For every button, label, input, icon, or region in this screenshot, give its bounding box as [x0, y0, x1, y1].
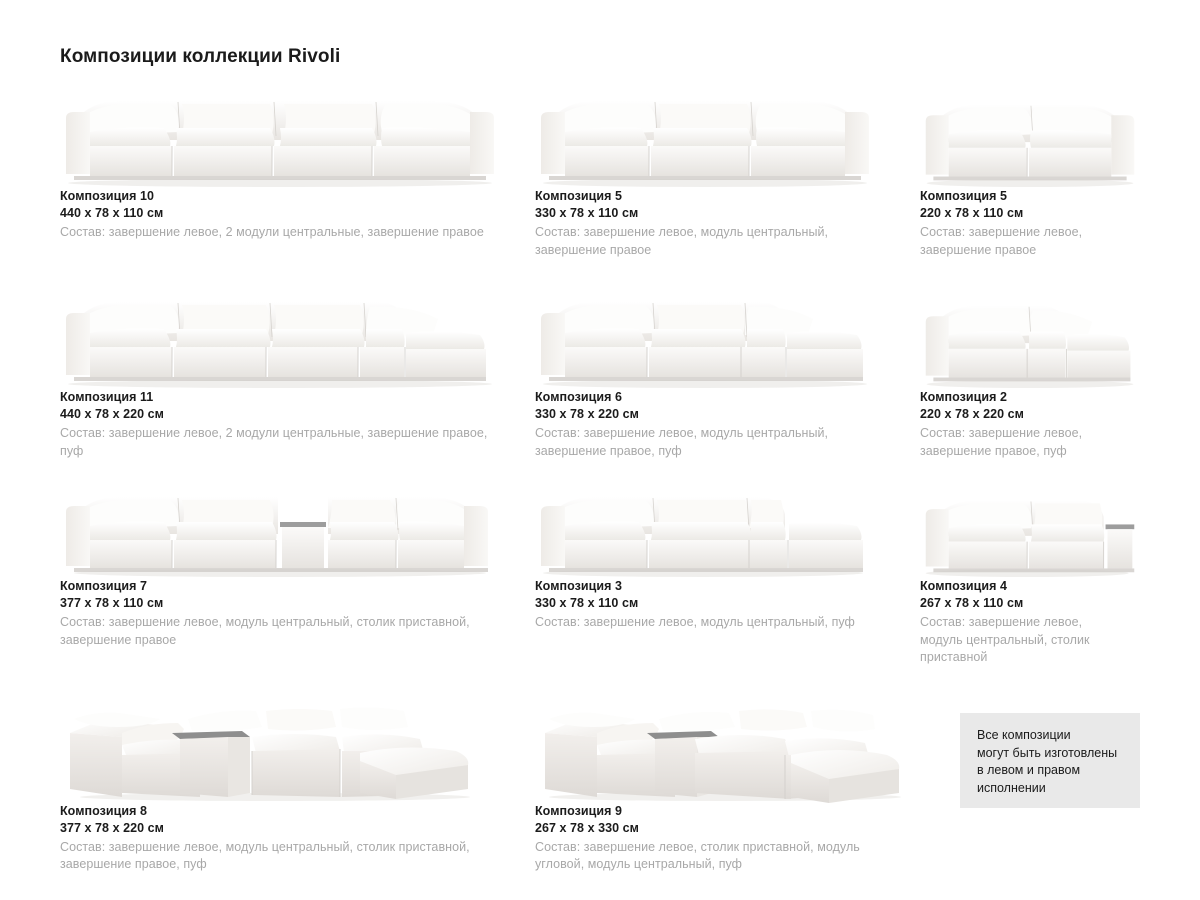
composition-parts: Состав: завершение левое, модуль централ… [535, 425, 898, 460]
composition-parts: Состав: завершение левое, столик пристав… [535, 839, 898, 874]
composition-row: Композиция 10 440 x 78 x 110 см Состав: … [60, 88, 1140, 259]
composition-card-4[interactable]: Композиция 4 267 x 78 x 110 см Состав: з… [920, 486, 1140, 667]
side-table-top [1106, 524, 1135, 529]
composition-name: Композиция 5 [920, 188, 1118, 205]
composition-card-2[interactable]: Композиция 2 220 x 78 x 220 см Состав: з… [920, 289, 1140, 460]
composition-name: Композиция 4 [920, 578, 1118, 595]
composition-name: Композиция 2 [920, 389, 1118, 406]
composition-caption: Композиция 5 330 x 78 x 110 см Состав: з… [535, 188, 920, 259]
composition-row: Композиция 7 377 x 78 x 110 см Состав: з… [60, 486, 1140, 667]
composition-dimensions: 377 x 78 x 220 см [60, 820, 513, 837]
composition-row: Композиция 11 440 x 78 x 220 см Состав: … [60, 289, 1140, 460]
composition-parts: Состав: завершение левое, завершение пра… [920, 425, 1118, 460]
composition-card-7[interactable]: Композиция 7 377 x 78 x 110 см Состав: з… [60, 486, 535, 667]
composition-card-9[interactable]: Композиция 9 267 x 78 x 330 см Состав: з… [535, 693, 920, 874]
composition-card-6[interactable]: Композиция 6 330 x 78 x 220 см Состав: з… [535, 289, 920, 460]
sofa-illustration-2 [920, 289, 1140, 389]
composition-card-11[interactable]: Композиция 11 440 x 78 x 220 см Состав: … [60, 289, 535, 460]
composition-dimensions: 267 x 78 x 330 см [535, 820, 898, 837]
sofa-illustration-8 [60, 693, 535, 803]
composition-parts: Состав: завершение левое, 2 модули центр… [60, 224, 513, 242]
composition-dimensions: 220 x 78 x 220 см [920, 406, 1118, 423]
composition-name: Композиция 11 [60, 389, 513, 406]
composition-caption: Композиция 2 220 x 78 x 220 см Состав: з… [920, 389, 1140, 460]
sofa-illustration-7 [60, 486, 535, 578]
composition-name: Композиция 10 [60, 188, 513, 205]
composition-dimensions: 330 x 78 x 110 см [535, 205, 898, 222]
info-box-line-2: могут быть изготовлены [977, 745, 1140, 763]
composition-caption: Композиция 3 330 x 78 x 110 см Состав: з… [535, 578, 920, 632]
composition-name: Композиция 6 [535, 389, 898, 406]
composition-card-5-330[interactable]: Композиция 5 330 x 78 x 110 см Состав: з… [535, 88, 920, 259]
composition-dimensions: 377 x 78 x 110 см [60, 595, 513, 612]
composition-caption: Композиция 11 440 x 78 x 220 см Состав: … [60, 389, 535, 460]
composition-card-10[interactable]: Композиция 10 440 x 78 x 110 см Состав: … [60, 88, 535, 259]
catalog-page: Композиции коллекции Rivoli [0, 0, 1200, 900]
composition-caption: Композиция 8 377 x 78 x 220 см Состав: з… [60, 803, 535, 874]
composition-caption: Композиция 7 377 x 78 x 110 см Состав: з… [60, 578, 535, 649]
composition-dimensions: 440 x 78 x 220 см [60, 406, 513, 423]
composition-parts: Состав: завершение левое, завершение пра… [920, 224, 1118, 259]
composition-name: Композиция 9 [535, 803, 898, 820]
composition-caption: Композиция 10 440 x 78 x 110 см Состав: … [60, 188, 535, 242]
composition-card-8[interactable]: Композиция 8 377 x 78 x 220 см Состав: з… [60, 693, 535, 874]
composition-caption: Композиция 9 267 x 78 x 330 см Состав: з… [535, 803, 920, 874]
composition-card-3[interactable]: Композиция 3 330 x 78 x 110 см Состав: з… [535, 486, 920, 667]
composition-dimensions: 330 x 78 x 220 см [535, 406, 898, 423]
composition-dimensions: 330 x 78 x 110 см [535, 595, 898, 612]
sofa-illustration-6 [535, 289, 920, 389]
sofa-illustration-5-330 [535, 88, 920, 188]
sofa-illustration-3 [535, 486, 920, 578]
page-title: Композиции коллекции Rivoli [60, 46, 340, 68]
composition-caption: Композиция 5 220 x 78 x 110 см Состав: з… [920, 188, 1140, 259]
composition-parts: Состав: завершение левое, модуль централ… [535, 614, 898, 632]
side-table-top [280, 522, 326, 527]
sofa-illustration-5-220 [920, 88, 1140, 188]
composition-dimensions: 220 x 78 x 110 см [920, 205, 1118, 222]
sofa-illustration-4 [920, 486, 1140, 578]
info-box-line-1: Все композиции [977, 727, 1140, 745]
composition-name: Композиция 7 [60, 578, 513, 595]
composition-parts: Состав: завершение левое, модуль централ… [60, 614, 513, 649]
info-box: Все композиции могут быть изготовлены в … [960, 713, 1140, 808]
composition-card-5-220[interactable]: Композиция 5 220 x 78 x 110 см Состав: з… [920, 88, 1140, 259]
composition-name: Композиция 5 [535, 188, 898, 205]
sofa-illustration-10 [60, 88, 535, 188]
composition-dimensions: 267 x 78 x 110 см [920, 595, 1118, 612]
info-box-line-4: исполнении [977, 780, 1140, 798]
composition-parts: Состав: завершение левое, модуль централ… [920, 614, 1118, 667]
composition-parts: Состав: завершение левое, модуль централ… [60, 839, 513, 874]
sofa-illustration-9 [535, 693, 920, 803]
composition-caption: Композиция 6 330 x 78 x 220 см Состав: з… [535, 389, 920, 460]
composition-caption: Композиция 4 267 x 78 x 110 см Состав: з… [920, 578, 1140, 667]
composition-dimensions: 440 x 78 x 110 см [60, 205, 513, 222]
composition-parts: Состав: завершение левое, модуль централ… [535, 224, 898, 259]
sofa-illustration-11 [60, 289, 535, 389]
composition-name: Композиция 8 [60, 803, 513, 820]
info-box-line-3: в левом и правом [977, 762, 1140, 780]
composition-parts: Состав: завершение левое, 2 модули центр… [60, 425, 513, 460]
composition-name: Композиция 3 [535, 578, 898, 595]
